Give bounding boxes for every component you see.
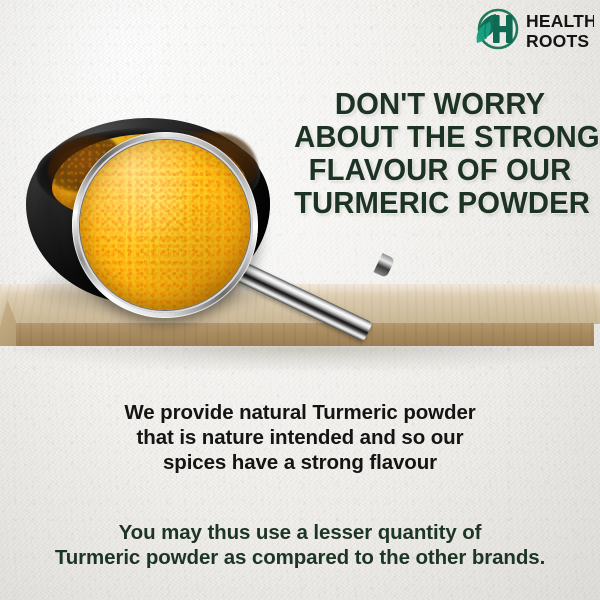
- leaf-h-monogram-icon: [477, 10, 517, 48]
- body1-line-1: We provide natural Turmeric powder: [60, 400, 540, 425]
- body2-line-2: Turmeric powder as compared to the other…: [20, 545, 580, 570]
- shelf-drop-shadow: [12, 344, 590, 370]
- body-paragraph-1: We provide natural Turmeric powder that …: [60, 400, 540, 475]
- body2-line-1: You may thus use a lesser quantity of: [20, 520, 580, 545]
- magnifier-handle-tip: [373, 253, 395, 278]
- lens-edge-shading: [80, 140, 250, 310]
- magnifier-lens: [80, 140, 250, 310]
- body-paragraph-2: You may thus use a lesser quantity of Tu…: [20, 520, 580, 570]
- brand-logo: HEALTHY ROOTS: [470, 6, 594, 54]
- brand-name-line1: HEALTHY: [526, 11, 594, 31]
- magnifier-ring-inner: [77, 137, 253, 313]
- headline-line-1: DON'T WORRY: [294, 88, 586, 121]
- brand-name-line2: ROOTS: [526, 31, 589, 51]
- body1-line-3: spices have a strong flavour: [60, 450, 540, 475]
- magnifier-chrome-ring: [72, 132, 258, 318]
- body1-line-2: that is nature intended and so our: [60, 425, 540, 450]
- poster-canvas: HEALTHY ROOTS DON'T WORRY ABOUT THE STRO…: [0, 0, 600, 600]
- magnifying-glass-icon: [72, 132, 412, 340]
